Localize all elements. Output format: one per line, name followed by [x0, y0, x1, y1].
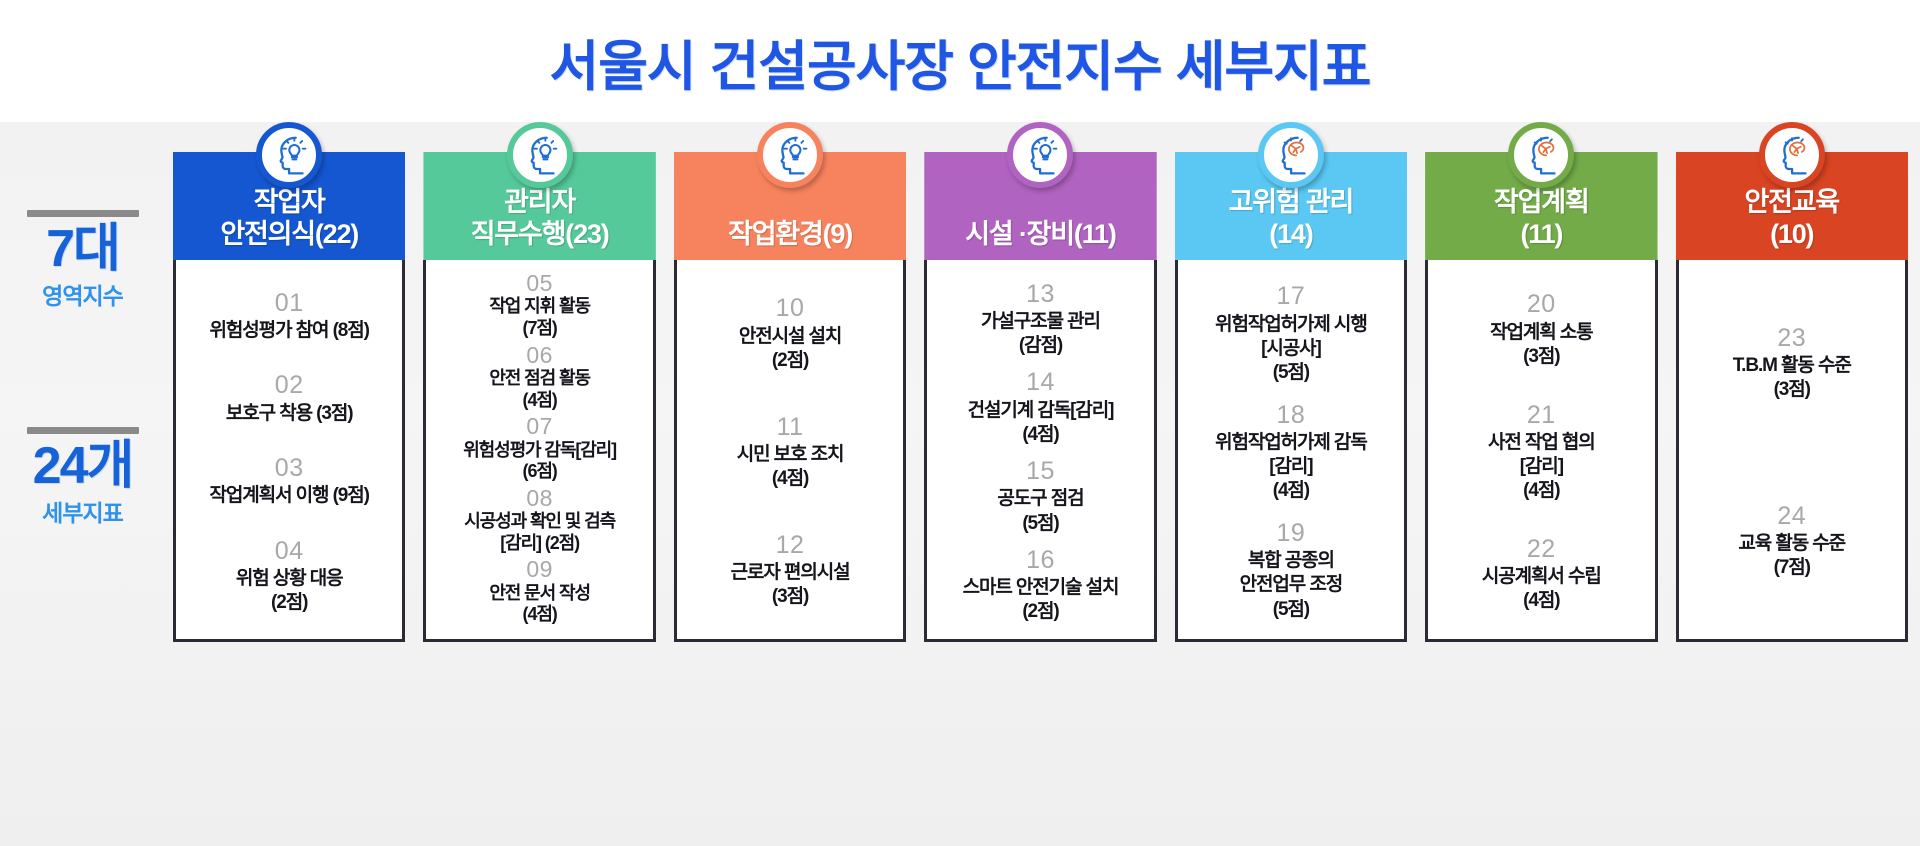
- indicator-label: 근로자 편의시설 (3점): [683, 561, 897, 609]
- indicator-number: 07: [432, 414, 646, 439]
- indicator-number: 18: [1184, 400, 1398, 431]
- category-column[interactable]: 시설 ·장비(11)13가설구조물 관리 (감점)14건설기계 감독[감리] (…: [924, 122, 1156, 846]
- indicator-number: 24: [1685, 501, 1899, 532]
- indicator-number: 01: [182, 288, 396, 319]
- category-item-list: 10안전시설 설치 (2점)11시민 보호 조치 (4점)12근로자 편의시설 …: [674, 260, 906, 642]
- indicator-number: 19: [1184, 518, 1398, 549]
- category-column[interactable]: 작업계획(11)20작업계획 소통 (3점)21사전 작업 협의 [감리] (4…: [1425, 122, 1657, 846]
- legend-indicators-count: 24개: [0, 440, 165, 493]
- indicator-label: 안전 문서 작성 (4점): [432, 583, 646, 626]
- title-bar: 서울시 건설공사장 안전지수 세부지표: [0, 0, 1920, 122]
- category-columns: 작업자안전의식(22)01위험성평가 참여 (8점)02보호구 착용 (3점)0…: [165, 122, 1920, 846]
- category-header-line: 안전교육: [1744, 187, 1839, 218]
- category-column[interactable]: 안전교육(10)23T.B.M 활동 수준 (3점)24교육 활동 수준 (7점…: [1676, 122, 1908, 846]
- indicator-label: 위험성평가 참여 (8점): [182, 319, 396, 343]
- legend-block-indicators: 24개 세부지표: [0, 427, 165, 528]
- indicator-label: 시공계획서 수립 (4점): [1434, 565, 1648, 613]
- indicator-label: 복합 공종의 안전업무 조정 (5점): [1184, 549, 1398, 621]
- category-header-line: (10): [1770, 219, 1813, 250]
- indicator-number: 15: [933, 456, 1147, 487]
- indicator-number: 22: [1434, 534, 1648, 565]
- indicator-item[interactable]: 09안전 문서 작성 (4점): [432, 557, 646, 625]
- indicator-item[interactable]: 20작업계획 소통 (3점): [1434, 289, 1648, 369]
- indicator-item[interactable]: 22시공계획서 수립 (4점): [1434, 534, 1648, 614]
- indicator-label: T.B.M 활동 수준 (3점): [1685, 354, 1899, 402]
- indicator-number: 09: [432, 557, 646, 582]
- indicator-number: 13: [933, 279, 1147, 310]
- indicator-item[interactable]: 12근로자 편의시설 (3점): [683, 530, 897, 610]
- category-column[interactable]: 관리자직무수행(23)05작업 지휘 활동 (7점)06안전 점검 활동 (4점…: [423, 122, 655, 846]
- category-item-list: 05작업 지휘 활동 (7점)06안전 점검 활동 (4점)07위험성평가 감독…: [423, 260, 655, 642]
- indicator-item[interactable]: 04위험 상황 대응 (2점): [182, 536, 396, 616]
- category-item-list: 13가설구조물 관리 (감점)14건설기계 감독[감리] (4점)15공도구 점…: [924, 260, 1156, 642]
- indicator-item[interactable]: 17위험작업허가제 시행 [시공사] (5점): [1184, 281, 1398, 385]
- indicator-label: 보호구 착용 (3점): [182, 402, 396, 426]
- indicator-label: 안전 점검 활동 (4점): [432, 368, 646, 411]
- indicator-label: 공도구 점검 (5점): [933, 487, 1147, 535]
- head-brain-icon: [1759, 122, 1825, 188]
- indicator-number: 16: [933, 545, 1147, 576]
- indicator-label: 시공성과 확인 및 검측 [감리] (2점): [432, 511, 646, 554]
- indicator-label: 교육 활동 수준 (7점): [1685, 532, 1899, 580]
- indicator-label: 위험 상황 대응 (2점): [182, 567, 396, 615]
- indicator-number: 12: [683, 530, 897, 561]
- head-lightbulb-icon: [1007, 122, 1073, 188]
- category-header-line: 직무수행(23): [471, 219, 609, 250]
- category-header-line: 작업환경(9): [728, 219, 852, 250]
- indicator-item[interactable]: 08시공성과 확인 및 검측 [감리] (2점): [432, 486, 646, 554]
- category-header-line: 시설 ·장비(11): [965, 219, 1115, 250]
- category-header-line: (14): [1269, 219, 1312, 250]
- indicator-label: 작업계획서 이행 (9점): [182, 484, 396, 508]
- legend-areas-label: 영역지수: [0, 277, 165, 311]
- indicator-number: 23: [1685, 323, 1899, 354]
- indicator-label: 작업계획 소통 (3점): [1434, 321, 1648, 369]
- category-header-line: 안전의식(22): [220, 219, 358, 250]
- indicator-number: 21: [1434, 400, 1648, 431]
- head-brain-icon: [1508, 122, 1574, 188]
- indicator-number: 04: [182, 536, 396, 567]
- category-header-line: (11): [1520, 219, 1562, 250]
- legend-indicators-label: 세부지표: [0, 494, 165, 528]
- indicator-label: 건설기계 감독[감리] (4점): [933, 399, 1147, 447]
- category-column[interactable]: 고위험 관리(14)17위험작업허가제 시행 [시공사] (5점)18위험작업허…: [1175, 122, 1407, 846]
- indicator-number: 05: [432, 271, 646, 296]
- category-header-line: 관리자: [504, 187, 575, 218]
- indicator-number: 11: [683, 412, 897, 443]
- category-item-list: 17위험작업허가제 시행 [시공사] (5점)18위험작업허가제 감독 [감리]…: [1175, 260, 1407, 642]
- indicator-label: 스마트 안전기술 설치 (2점): [933, 576, 1147, 624]
- category-header-line: 고위험 관리: [1229, 187, 1354, 218]
- indicator-item[interactable]: 16스마트 안전기술 설치 (2점): [933, 545, 1147, 625]
- content-panel: 7대 영역지수 24개 세부지표 작업자안전의식(22)01위험성평가 참여 (…: [0, 122, 1920, 846]
- indicator-number: 20: [1434, 289, 1648, 320]
- indicator-label: 사전 작업 협의 [감리] (4점): [1434, 431, 1648, 503]
- indicator-item[interactable]: 18위험작업허가제 감독 [감리] (4점): [1184, 400, 1398, 504]
- indicator-item[interactable]: 13가설구조물 관리 (감점): [933, 279, 1147, 359]
- indicator-item[interactable]: 07위험성평가 감독[감리] (6점): [432, 414, 646, 482]
- indicator-item[interactable]: 11시민 보호 조치 (4점): [683, 412, 897, 492]
- indicator-item[interactable]: 03작업계획서 이행 (9점): [182, 453, 396, 508]
- category-header-line: 작업자: [254, 187, 325, 218]
- category-item-list: 23T.B.M 활동 수준 (3점)24교육 활동 수준 (7점): [1676, 260, 1908, 642]
- indicator-number: 06: [432, 343, 646, 368]
- category-item-list: 01위험성평가 참여 (8점)02보호구 착용 (3점)03작업계획서 이행 (…: [173, 260, 405, 642]
- indicator-item[interactable]: 14건설기계 감독[감리] (4점): [933, 367, 1147, 447]
- category-item-list: 20작업계획 소통 (3점)21사전 작업 협의 [감리] (4점)22시공계획…: [1425, 260, 1657, 642]
- infographic-page: 서울시 건설공사장 안전지수 세부지표 7대 영역지수 24개 세부지표 작업자…: [0, 0, 1920, 846]
- indicator-label: 작업 지휘 활동 (7점): [432, 296, 646, 339]
- indicator-number: 02: [182, 370, 396, 401]
- indicator-number: 03: [182, 453, 396, 484]
- indicator-label: 위험작업허가제 시행 [시공사] (5점): [1184, 313, 1398, 385]
- legend-rule-icon: [27, 210, 139, 217]
- category-column[interactable]: 작업자안전의식(22)01위험성평가 참여 (8점)02보호구 착용 (3점)0…: [173, 122, 405, 846]
- legend-column: 7대 영역지수 24개 세부지표: [0, 122, 165, 846]
- indicator-item[interactable]: 10안전시설 설치 (2점): [683, 293, 897, 373]
- indicator-label: 안전시설 설치 (2점): [683, 325, 897, 373]
- indicator-item[interactable]: 05작업 지휘 활동 (7점): [432, 271, 646, 339]
- indicator-number: 08: [432, 486, 646, 511]
- legend-rule-icon: [27, 427, 139, 434]
- indicator-item[interactable]: 19복합 공종의 안전업무 조정 (5점): [1184, 518, 1398, 622]
- category-column[interactable]: 작업환경(9)10안전시설 설치 (2점)11시민 보호 조치 (4점)12근로…: [674, 122, 906, 846]
- category-header-line: 작업계획: [1494, 187, 1589, 218]
- head-lightbulb-icon: [757, 122, 823, 188]
- page-title: 서울시 건설공사장 안전지수 세부지표: [550, 22, 1371, 101]
- indicator-item[interactable]: 01위험성평가 참여 (8점): [182, 288, 396, 343]
- legend-block-areas: 7대 영역지수: [0, 210, 165, 311]
- head-lightbulb-icon: [256, 122, 322, 188]
- indicator-item[interactable]: 24교육 활동 수준 (7점): [1685, 501, 1899, 581]
- head-lightbulb-icon: [507, 122, 573, 188]
- indicator-item[interactable]: 06안전 점검 활동 (4점): [432, 343, 646, 411]
- indicator-label: 위험성평가 감독[감리] (6점): [432, 440, 646, 483]
- indicator-label: 시민 보호 조치 (4점): [683, 443, 897, 491]
- indicator-number: 14: [933, 367, 1147, 398]
- indicator-item[interactable]: 21사전 작업 협의 [감리] (4점): [1434, 400, 1648, 504]
- head-brain-icon: [1258, 122, 1324, 188]
- indicator-item[interactable]: 23T.B.M 활동 수준 (3점): [1685, 323, 1899, 403]
- indicator-label: 위험작업허가제 감독 [감리] (4점): [1184, 431, 1398, 503]
- indicator-number: 17: [1184, 281, 1398, 312]
- indicator-item[interactable]: 02보호구 착용 (3점): [182, 370, 396, 425]
- indicator-item[interactable]: 15공도구 점검 (5점): [933, 456, 1147, 536]
- indicator-label: 가설구조물 관리 (감점): [933, 310, 1147, 358]
- legend-areas-count: 7대: [0, 223, 165, 276]
- indicator-number: 10: [683, 293, 897, 324]
